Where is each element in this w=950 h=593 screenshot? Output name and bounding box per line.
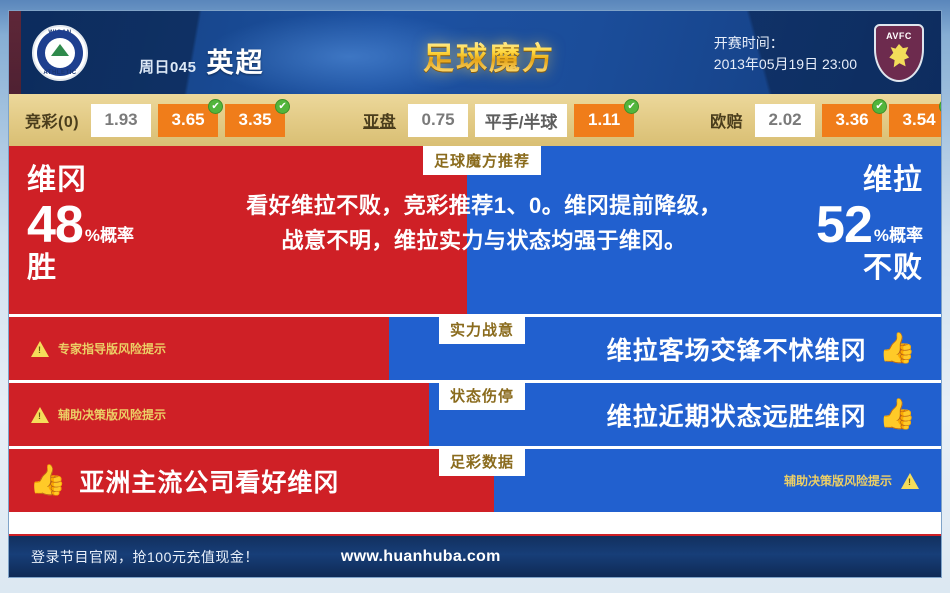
thumbs-up-icon: 👍: [29, 466, 67, 496]
risk-note: 专家指导版风险提示: [9, 340, 188, 357]
thumbs-up-icon: 👍: [879, 400, 917, 430]
warning-icon: [901, 473, 919, 489]
risk-note: 辅助决策版风险提示: [9, 406, 188, 423]
check-icon: ✔: [872, 99, 887, 114]
away-outcome: 不败: [816, 252, 923, 284]
check-icon: ✔: [275, 99, 290, 114]
comparison-claim: 👍亚洲主流公司看好维冈: [9, 463, 339, 499]
wigan-athletic-crest-icon: WIGAN ATHLETIC: [32, 25, 88, 81]
comparison-claim: 维拉客场交锋不怵维冈👍: [607, 331, 941, 367]
risk-note-text: 辅助决策版风险提示: [58, 406, 166, 423]
odds-value: 3.65: [172, 110, 205, 130]
odds-value: 3.54: [903, 110, 936, 130]
home-probability: 维冈 48 %概率 胜: [27, 164, 134, 284]
comparison-claim-text: 维拉客场交锋不怵维冈: [607, 331, 867, 367]
comparison-home-side: 专家指导版风险提示: [9, 317, 389, 380]
recommendation-text: 看好维拉不败，竞彩推荐1、0。维冈提前降级，战意不明，维拉实力与状态均强于维冈。: [241, 188, 727, 258]
comparison-claim-text: 亚洲主流公司看好维冈: [79, 463, 339, 499]
odds-cell[interactable]: 0.75: [408, 104, 468, 137]
odds-value: 3.36: [836, 110, 869, 130]
aston-villa-crest-icon: AVFC: [874, 24, 924, 82]
odds-cell[interactable]: 3.65✔: [158, 104, 218, 137]
crest-tree-icon: [51, 44, 69, 56]
kickoff-time: 开赛时间： 2013年05月19日 23:00: [714, 33, 857, 75]
risk-note-text: 专家指导版风险提示: [58, 340, 166, 357]
odds-cell[interactable]: 2.02: [755, 104, 815, 137]
check-icon: ✔: [939, 99, 942, 114]
away-probability-value: 52: [816, 199, 872, 251]
warning-icon: [31, 341, 49, 357]
comparison-rows: 专家指导版风险提示维拉客场交锋不怵维冈👍实力战意辅助决策版风险提示维拉近期状态远…: [9, 317, 941, 512]
odds-cell[interactable]: 平手/半球: [475, 104, 567, 137]
crest-text-bottom: ATHLETIC: [34, 70, 86, 76]
home-team-name: 维冈: [27, 164, 134, 197]
comparison-category-tag: 足彩数据: [439, 447, 525, 476]
league-name: 英超: [207, 41, 265, 80]
odds-group-label: 欧赔: [710, 108, 743, 132]
odds-group-jingcai: 竞彩(0)1.933.65✔3.35✔: [25, 104, 285, 137]
recommendation-tag: 足球魔方推荐: [423, 146, 541, 175]
odds-cell[interactable]: 3.36✔: [822, 104, 882, 137]
away-team-crest: AVFC: [873, 23, 925, 83]
footer-promo-text: 登录节目官网，抢100元充值现金！: [31, 547, 259, 567]
odds-value: 2.02: [769, 110, 802, 130]
crest-inner: [45, 38, 75, 68]
comparison-home-side: 辅助决策版风险提示: [9, 383, 429, 446]
prediction-band: 维冈 48 %概率 胜 维拉 52 %概率 不败 足球魔方推荐 看好维拉不败，竞…: [9, 146, 941, 314]
odds-value: 1.11: [588, 110, 620, 130]
home-team-crest: WIGAN ATHLETIC: [31, 24, 89, 82]
comparison-row: 专家指导版风险提示维拉客场交锋不怵维冈👍实力战意: [9, 317, 941, 380]
away-probability-row: 52 %概率: [816, 199, 923, 251]
home-probability-value: 48: [27, 199, 83, 251]
warning-icon: [31, 407, 49, 423]
crest-lion-icon: [888, 44, 910, 70]
home-probability-unit: %概率: [85, 227, 134, 251]
home-probability-row: 48 %概率: [27, 199, 134, 251]
check-icon: ✔: [208, 99, 223, 114]
home-outcome: 胜: [27, 252, 134, 284]
footer-bar: 登录节目官网，抢100元充值现金！ www.huanhuba.com: [9, 534, 941, 577]
odds-cell[interactable]: 3.54✔: [889, 104, 942, 137]
check-icon: ✔: [624, 99, 639, 114]
infographic-frame: WIGAN ATHLETIC 周日045 英超 足球魔方 开赛时间： 2013年…: [8, 10, 942, 578]
comparison-row: 辅助决策版风险提示维拉近期状态远胜维冈👍状态伤停: [9, 383, 941, 446]
kickoff-value: 2013年05月19日 23:00: [714, 54, 857, 75]
comparison-claim-text: 维拉近期状态远胜维冈: [607, 397, 867, 433]
odds-cell[interactable]: 1.93: [91, 104, 151, 137]
comparison-claim: 维拉近期状态远胜维冈👍: [607, 397, 941, 433]
odds-group-asian-handicap: 亚盘0.75平手/半球1.11✔: [363, 104, 634, 137]
thumbs-up-icon: 👍: [879, 334, 917, 364]
match-header: WIGAN ATHLETIC 周日045 英超 足球魔方 开赛时间： 2013年…: [9, 11, 941, 94]
away-team-name: 维拉: [816, 164, 923, 197]
odds-group-label: 竞彩(0): [25, 108, 79, 132]
odds-value: 0.75: [422, 110, 455, 130]
crest-label: AVFC: [886, 31, 912, 41]
comparison-category-tag: 状态伤停: [439, 381, 525, 410]
comparison-row: 👍亚洲主流公司看好维冈辅助决策版风险提示足彩数据: [9, 449, 941, 512]
odds-value: 平手/半球: [485, 108, 558, 133]
risk-note-text: 辅助决策版风险提示: [784, 472, 892, 489]
away-probability: 维拉 52 %概率 不败: [816, 164, 923, 284]
brand-logo: 足球魔方: [423, 33, 555, 78]
odds-cell[interactable]: 1.11✔: [574, 104, 634, 137]
comparison-away-side: 辅助决策版风险提示: [494, 449, 941, 512]
round-number: 周日045: [139, 56, 197, 77]
odds-group-european-odds: 欧赔2.023.36✔3.54✔: [710, 104, 942, 137]
risk-note: 辅助决策版风险提示: [762, 472, 941, 489]
kickoff-label: 开赛时间：: [714, 33, 857, 54]
match-round-info: 周日045 英超: [139, 41, 265, 80]
odds-group-label: 亚盘: [363, 108, 396, 132]
odds-bar: 竞彩(0)1.933.65✔3.35✔亚盘0.75平手/半球1.11✔欧赔2.0…: [9, 94, 941, 146]
comparison-home-side: 👍亚洲主流公司看好维冈: [9, 449, 494, 512]
footer-website-url[interactable]: www.huanhuba.com: [341, 548, 501, 566]
odds-cell[interactable]: 3.35✔: [225, 104, 285, 137]
odds-value: 3.35: [239, 110, 272, 130]
comparison-category-tag: 实力战意: [439, 315, 525, 344]
away-probability-unit: %概率: [874, 227, 923, 251]
odds-value: 1.93: [105, 110, 138, 130]
